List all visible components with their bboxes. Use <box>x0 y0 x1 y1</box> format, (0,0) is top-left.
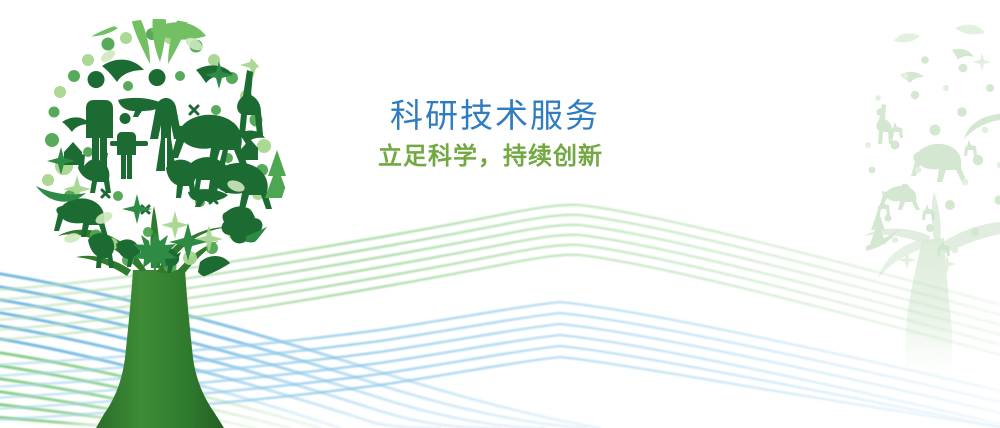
hero-banner: 科研技术服务 立足科学，持续创新 <box>0 0 1000 428</box>
banner-text-block: 科研技术服务 立足科学，持续创新 <box>378 96 698 172</box>
page-subtitle: 立足科学，持续创新 <box>378 142 698 172</box>
tree-canopy <box>36 0 290 288</box>
canopy-silhouettes-dark <box>36 60 290 288</box>
biodiversity-tree-graphic <box>0 0 1000 428</box>
page-title: 科研技术服务 <box>390 96 698 136</box>
